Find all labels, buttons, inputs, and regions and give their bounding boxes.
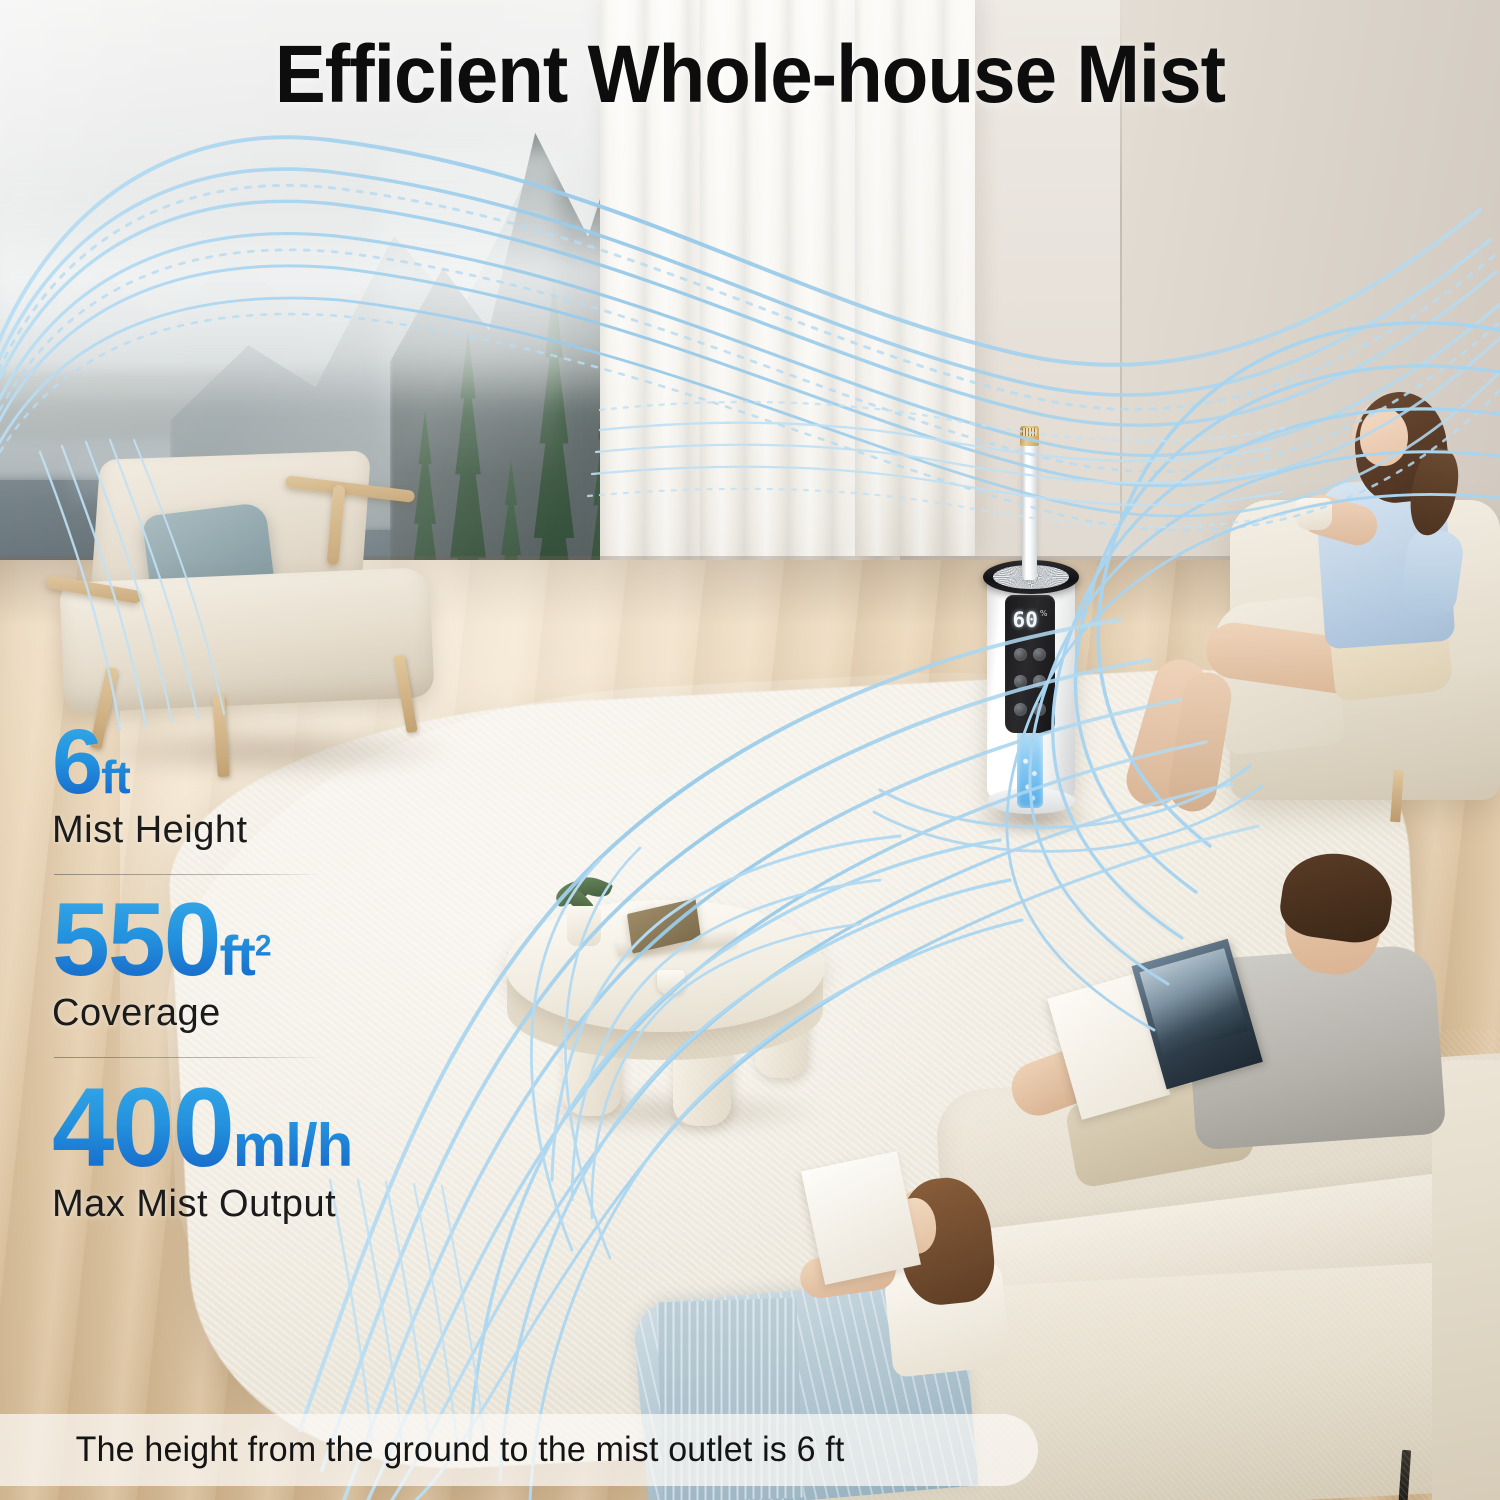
woman-cup <box>1296 498 1332 530</box>
control-panel[interactable]: 60 % <box>1005 595 1055 733</box>
timer-button-icon[interactable] <box>1033 675 1046 688</box>
page-title: Efficient Whole-house Mist <box>53 28 1448 122</box>
stat-label: Mist Height <box>52 809 532 852</box>
auto-mode-button-icon[interactable] <box>1033 703 1046 716</box>
stat-label: Max Mist Output <box>52 1183 532 1226</box>
fog-band <box>0 180 690 410</box>
stat-unit-superscript: 2 <box>255 929 271 962</box>
stat-divider <box>54 1057 324 1058</box>
stat-unit: ml/h <box>233 1112 352 1179</box>
humidity-button-icon[interactable] <box>1014 675 1027 688</box>
table-cup <box>657 970 685 994</box>
stat-max-mist-output: 400ml/h Max Mist Output <box>52 1076 532 1226</box>
stat-divider <box>54 874 324 875</box>
humidity-value: 60 <box>1013 608 1038 632</box>
caption-bar: The height from the ground to the mist o… <box>0 1414 1038 1486</box>
mist-level-button-icon[interactable] <box>1033 648 1046 661</box>
stat-number: 550 <box>52 882 220 998</box>
plant-pot <box>567 906 601 946</box>
stat-mist-height: 6ft Mist Height <box>52 720 532 852</box>
stat-value: 6ft <box>52 720 130 805</box>
product-feature-image: 60 % <box>0 0 1500 1500</box>
power-button-icon[interactable] <box>1014 648 1027 661</box>
caption-text: The height from the ground to the mist o… <box>0 1430 845 1470</box>
stat-number: 400 <box>52 1065 233 1190</box>
stat-unit: ft2 <box>220 924 271 987</box>
sleep-mode-button-icon[interactable] <box>1014 703 1027 716</box>
stat-label: Coverage <box>52 992 532 1035</box>
humidity-display: 60 % <box>1011 605 1049 635</box>
control-buttons[interactable] <box>1013 643 1047 721</box>
stats-list: 6ft Mist Height 550ft2 Coverage 400ml/h … <box>52 720 532 1226</box>
stat-value: 550ft2 <box>52 893 271 989</box>
stat-coverage: 550ft2 Coverage <box>52 893 532 1036</box>
stat-number: 6 <box>52 711 101 813</box>
nozzle-gold-tip <box>1020 426 1039 446</box>
stat-value: 400ml/h <box>52 1076 352 1179</box>
humidity-unit: % <box>1040 609 1048 618</box>
tower-humidifier: 60 % <box>975 420 1095 830</box>
extension-nozzle <box>1022 438 1037 580</box>
stat-unit: ft <box>101 751 130 803</box>
sofa-right-arm <box>1432 1060 1500 1500</box>
